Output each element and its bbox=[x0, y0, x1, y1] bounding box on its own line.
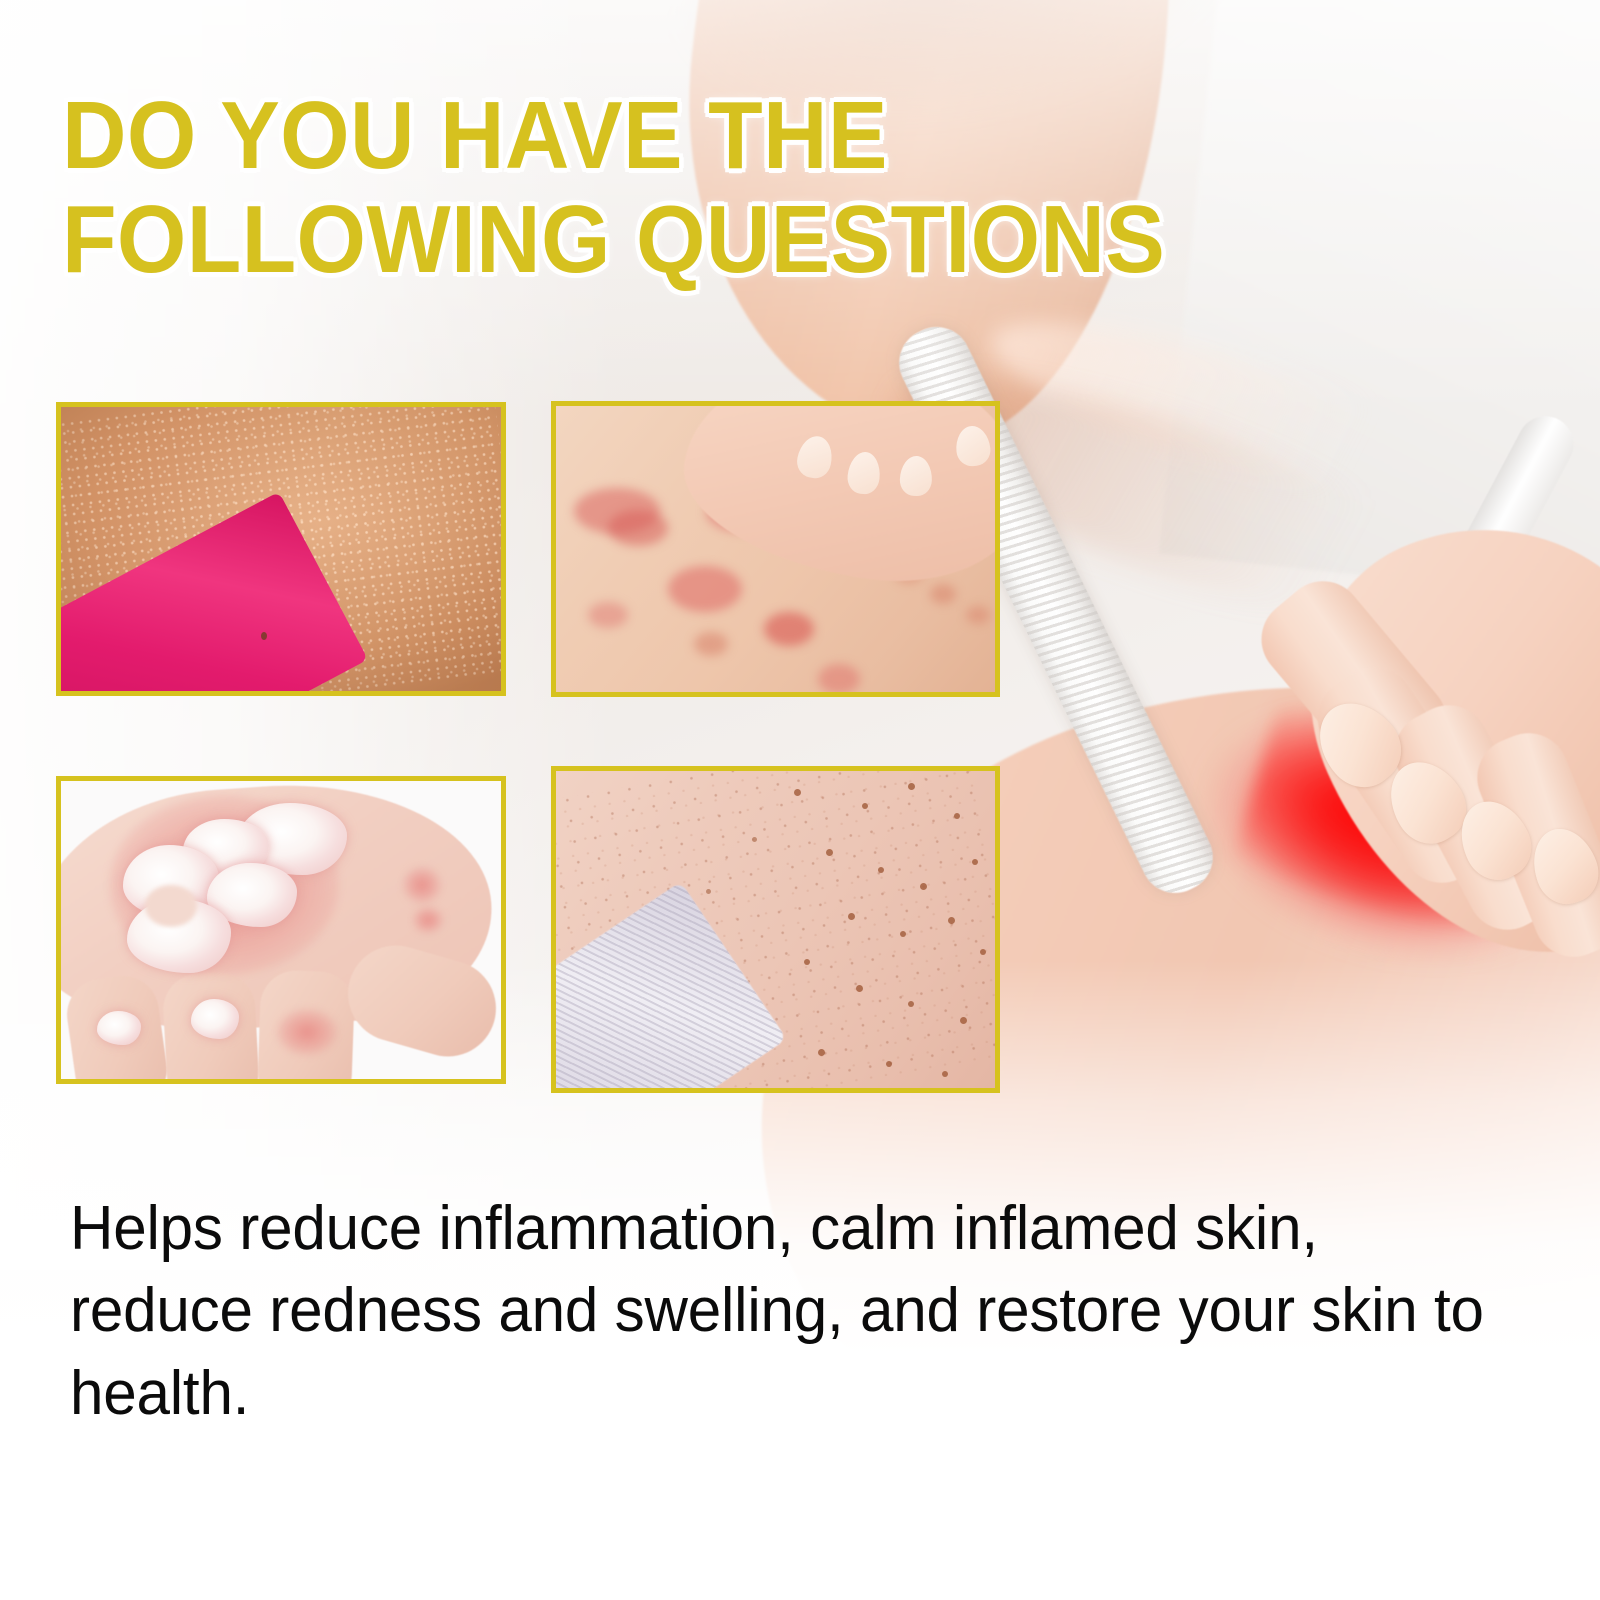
clogged-pore bbox=[948, 917, 955, 924]
thumb-goosebump-skin bbox=[56, 402, 506, 696]
clogged-pore bbox=[908, 1001, 914, 1007]
clogged-pore bbox=[752, 837, 757, 842]
clogged-pore bbox=[878, 867, 884, 873]
clogged-pore bbox=[900, 931, 906, 937]
rash-spot bbox=[818, 664, 860, 692]
thumb-red-rash-back-image bbox=[556, 406, 995, 692]
clogged-pore bbox=[804, 959, 810, 965]
clogged-pore bbox=[942, 1071, 948, 1077]
clogged-pore bbox=[960, 1017, 967, 1024]
psoriasis-erythema bbox=[277, 1009, 337, 1055]
rash-spot bbox=[668, 566, 742, 612]
clogged-pore bbox=[848, 913, 855, 920]
clogged-pore bbox=[826, 849, 833, 856]
plaque-center-clearing bbox=[145, 885, 197, 927]
clogged-pore bbox=[794, 789, 801, 796]
poster-canvas: DO YOU HAVE THE FOLLOWING QUESTIONS bbox=[0, 0, 1600, 1600]
psoriasis-erythema bbox=[413, 907, 443, 933]
body-copy: Helps reduce inflammation, calm inflamed… bbox=[70, 1188, 1496, 1435]
clogged-pore bbox=[706, 889, 711, 894]
headline: DO YOU HAVE THE FOLLOWING QUESTIONS bbox=[62, 84, 1438, 291]
rash-spot bbox=[588, 602, 628, 628]
thumb-clogged-pores bbox=[551, 766, 1000, 1093]
clogged-pore bbox=[954, 813, 960, 819]
clogged-pore bbox=[862, 803, 868, 809]
thumb-clogged-pores-image bbox=[556, 771, 995, 1088]
rash-spot bbox=[608, 510, 668, 546]
clogged-pore bbox=[908, 783, 915, 790]
clogged-pore bbox=[856, 985, 863, 992]
clogged-pore bbox=[980, 949, 986, 955]
psoriasis-plaque bbox=[191, 999, 239, 1039]
thumb-goosebump-skin-image bbox=[61, 407, 501, 691]
rash-spot bbox=[764, 612, 814, 646]
thumb-psoriasis-hand bbox=[56, 776, 506, 1084]
psoriasis-erythema bbox=[403, 867, 441, 903]
clogged-pore bbox=[972, 859, 978, 865]
psoriasis-plaque bbox=[97, 1011, 141, 1045]
rash-spot bbox=[966, 606, 990, 624]
thumb-psoriasis-hand-image bbox=[61, 781, 501, 1079]
clogged-pore bbox=[886, 1061, 892, 1067]
thumb-red-rash-back bbox=[551, 401, 1000, 697]
skin-mole bbox=[261, 632, 267, 640]
rash-spot bbox=[930, 584, 956, 604]
clogged-pore bbox=[920, 883, 927, 890]
clogged-pore bbox=[818, 1049, 825, 1056]
rash-spot bbox=[694, 632, 728, 656]
